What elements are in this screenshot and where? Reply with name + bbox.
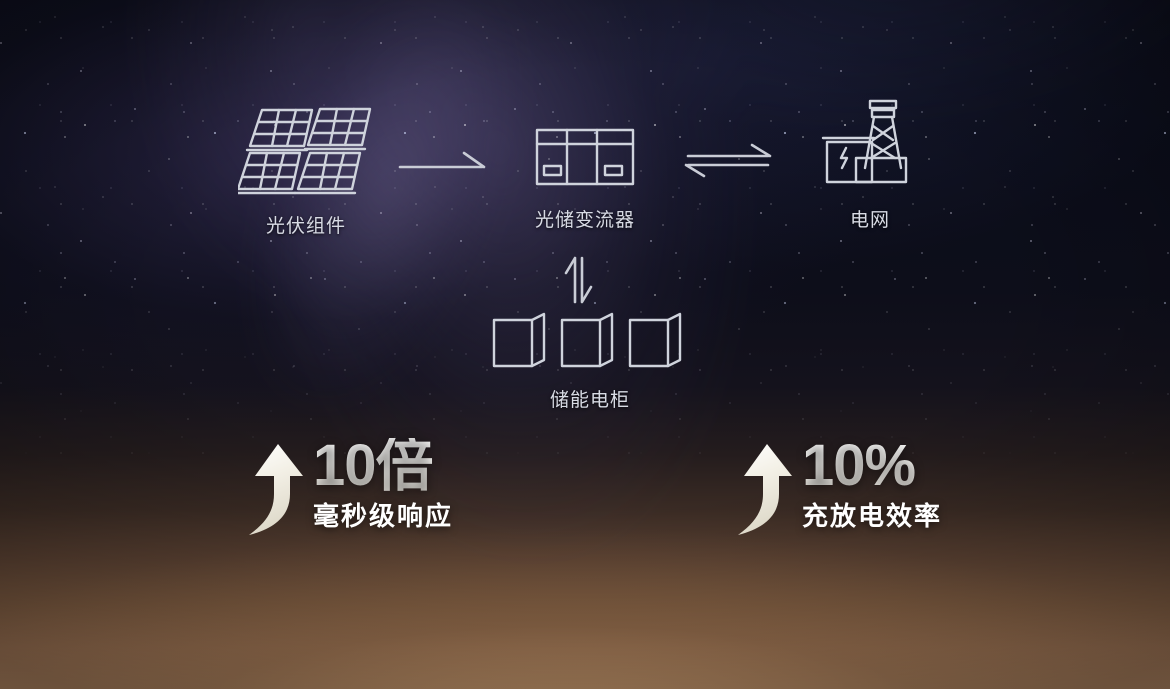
stat-response-text: 10倍 毫秒级响应 [313,438,453,533]
stat-efficiency-description: 充放电效率 [802,496,942,533]
solar-panel-icon [226,100,386,205]
promo-slide: 光伏组件 光储变流器 [0,0,1170,689]
pcs-inverter-icon [505,122,665,199]
diagram-node-battery: 储能电柜 [470,308,710,412]
stat-response-value: 10倍 [313,438,453,494]
arrow-bidirectional-icon [682,142,774,183]
arrow-up-curved-icon [243,442,305,538]
diagram-node-battery-label: 储能电柜 [470,385,710,412]
arrow-right-icon [398,148,488,181]
arrow-bidirectional-vertical-icon [562,256,596,309]
stat-response: 10倍 毫秒级响应 [243,438,453,538]
stat-efficiency-text: 10% 充放电效率 [802,438,942,533]
stat-efficiency: 10% 充放电效率 [732,438,942,538]
power-grid-tower-icon [790,96,950,199]
stat-response-description: 毫秒级响应 [313,496,453,533]
diagram-node-inverter: 光储变流器 [505,122,665,232]
stats-row: 10倍 毫秒级响应 10% 充 [0,438,1170,558]
arrow-up-curved-icon [732,442,794,538]
diagram-node-pv: 光伏组件 [226,100,386,238]
energy-system-diagram: 光伏组件 光储变流器 [0,0,1170,689]
stat-efficiency-value: 10% [802,438,942,494]
diagram-node-grid: 电网 [790,96,950,232]
diagram-node-pv-label: 光伏组件 [226,211,386,238]
diagram-node-grid-label: 电网 [790,205,950,232]
battery-cabinet-icon [470,308,710,379]
diagram-node-inverter-label: 光储变流器 [505,205,665,232]
